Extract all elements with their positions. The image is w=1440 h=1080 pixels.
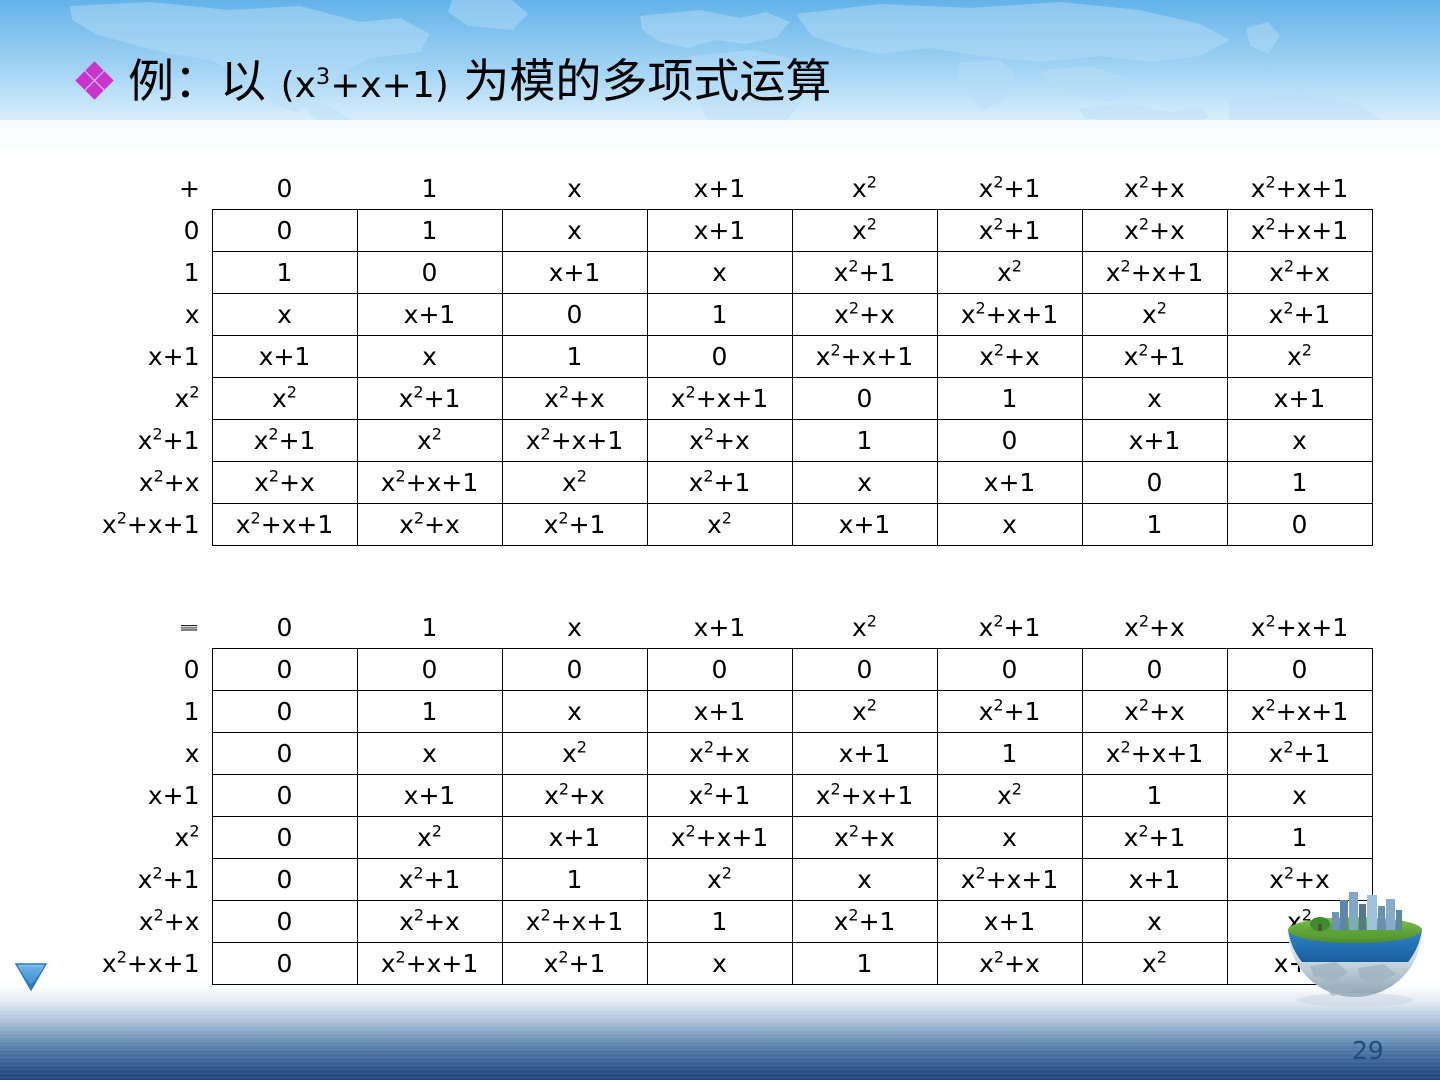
multiplication-table-row: x2+x0x2+xx2+x+11x2+1x+1xx2: [0, 901, 1372, 943]
down-triangle-icon[interactable]: [14, 962, 48, 992]
multiplication-table: ≡ 0 1 x x+1 x2 x2+1 x2+x x2+x+1 00000000…: [0, 607, 1373, 985]
addition-table-cell-0-0: 0: [212, 210, 357, 252]
addition-operator-symbol: +: [0, 168, 212, 210]
multiplication-table-block: ≡ 0 1 x x+1 x2 x2+1 x2+x x2+x+1 00000000…: [0, 607, 1373, 985]
addition-table-cell-0-2: x: [502, 210, 647, 252]
addition-table-row-label-4: x2: [0, 378, 212, 420]
addition-table-cell-7-0: x2+x+1: [212, 504, 357, 546]
ocean-footer: [0, 985, 1440, 1080]
addition-table-cell-2-6: x2: [1082, 294, 1227, 336]
multiplication-col-head-0: 0: [212, 607, 357, 649]
addition-table-cell-7-5: x: [937, 504, 1082, 546]
addition-table-row: xxx+101x2+xx2+x+1x2x2+1: [0, 294, 1372, 336]
addition-col-head-3: x+1: [647, 168, 792, 210]
addition-table-cell-1-0: 1: [212, 252, 357, 294]
diamond-bullet-icon: [78, 64, 112, 98]
multiplication-table-cell-3-2: x2+x: [502, 775, 647, 817]
multiplication-table-cell-0-3: 0: [647, 649, 792, 691]
multiplication-table-cell-2-5: 1: [937, 733, 1082, 775]
multiplication-table-row: x2+x+10x2+x+1x2+1x1x2+xx2x+1: [0, 943, 1372, 985]
globe-city-graphic: [1280, 890, 1430, 1015]
multiplication-table-cell-4-2: x+1: [502, 817, 647, 859]
multiplication-table-cell-7-5: x2+x: [937, 943, 1082, 985]
addition-table-cell-2-7: x2+1: [1227, 294, 1372, 336]
multiplication-table-cell-4-0: 0: [212, 817, 357, 859]
addition-table-cell-2-3: 1: [647, 294, 792, 336]
addition-table-cell-7-3: x2: [647, 504, 792, 546]
multiplication-table-cell-1-4: x2: [792, 691, 937, 733]
addition-table-cell-4-2: x2+x: [502, 378, 647, 420]
addition-table-row-label-6: x2+x: [0, 462, 212, 504]
addition-table-cell-5-0: x2+1: [212, 420, 357, 462]
addition-table-cell-3-0: x+1: [212, 336, 357, 378]
multiplication-table-row-label-1: 1: [0, 691, 212, 733]
multiplication-table-cell-1-7: x2+x+1: [1227, 691, 1372, 733]
addition-table-cell-5-3: x2+x: [647, 420, 792, 462]
addition-col-head-5: x2+1: [937, 168, 1082, 210]
multiplication-table-row: x2+10x2+11x2xx2+x+1x+1x2+x: [0, 859, 1372, 901]
multiplication-table-cell-6-4: x2+1: [792, 901, 937, 943]
multiplication-table-cell-1-5: x2+1: [937, 691, 1082, 733]
addition-table-cell-1-7: x2+x: [1227, 252, 1372, 294]
addition-table-cell-2-1: x+1: [357, 294, 502, 336]
multiplication-table-cell-1-1: 1: [357, 691, 502, 733]
title-polynomial: (x3+x+1): [281, 65, 449, 106]
multiplication-table-row-label-4: x2: [0, 817, 212, 859]
multiplication-table-cell-2-2: x2: [502, 733, 647, 775]
multiplication-table-cell-6-5: x+1: [937, 901, 1082, 943]
multiplication-table-cell-3-7: x: [1227, 775, 1372, 817]
addition-table-cell-2-0: x: [212, 294, 357, 336]
addition-table-cell-5-4: 1: [792, 420, 937, 462]
addition-table-cell-4-0: x2: [212, 378, 357, 420]
addition-table-cell-3-4: x2+x+1: [792, 336, 937, 378]
multiplication-table-cell-2-7: x2+1: [1227, 733, 1372, 775]
addition-table-cell-6-6: 0: [1082, 462, 1227, 504]
addition-table-cell-1-6: x2+x+1: [1082, 252, 1227, 294]
title-suffix: 为模的多项式运算: [449, 54, 832, 108]
addition-table-row: x2+xx2+xx2+x+1x2x2+1xx+101: [0, 462, 1372, 504]
multiplication-table-row-label-5: x2+1: [0, 859, 212, 901]
multiplication-table-cell-2-3: x2+x: [647, 733, 792, 775]
ocean-ripples: [0, 985, 1440, 1080]
addition-col-head-0: 0: [212, 168, 357, 210]
multiplication-table-body: 000000000101xx+1x2x2+1x2+xx2+x+1x0xx2x2+…: [0, 649, 1372, 985]
addition-table-cell-5-5: 0: [937, 420, 1082, 462]
addition-table-cell-6-7: 1: [1227, 462, 1372, 504]
addition-col-head-1: 1: [357, 168, 502, 210]
addition-table-cell-0-7: x2+x+1: [1227, 210, 1372, 252]
page-number: 29: [1352, 1036, 1384, 1065]
addition-table-cell-0-3: x+1: [647, 210, 792, 252]
multiplication-col-head-1: 1: [357, 607, 502, 649]
addition-table-cell-7-7: 0: [1227, 504, 1372, 546]
addition-table-cell-3-7: x2: [1227, 336, 1372, 378]
multiplication-table-cell-6-6: x: [1082, 901, 1227, 943]
multiplication-col-head-7: x2+x+1: [1227, 607, 1372, 649]
addition-table-cell-3-1: x: [357, 336, 502, 378]
addition-table-cell-3-5: x2+x: [937, 336, 1082, 378]
addition-table-cell-7-2: x2+1: [502, 504, 647, 546]
addition-table-cell-6-5: x+1: [937, 462, 1082, 504]
addition-table-cell-0-5: x2+1: [937, 210, 1082, 252]
addition-table-cell-5-6: x+1: [1082, 420, 1227, 462]
addition-table-cell-2-5: x2+x+1: [937, 294, 1082, 336]
addition-table-cell-1-2: x+1: [502, 252, 647, 294]
multiplication-table-cell-6-3: 1: [647, 901, 792, 943]
addition-table-cell-4-4: 0: [792, 378, 937, 420]
addition-table-cell-7-4: x+1: [792, 504, 937, 546]
addition-table-cell-6-2: x2: [502, 462, 647, 504]
multiplication-table-cell-5-5: x2+x+1: [937, 859, 1082, 901]
addition-table-cell-4-5: 1: [937, 378, 1082, 420]
addition-table-cell-1-3: x: [647, 252, 792, 294]
multiplication-table-cell-3-6: 1: [1082, 775, 1227, 817]
multiplication-table-cell-5-1: x2+1: [357, 859, 502, 901]
multiplication-table-cell-2-1: x: [357, 733, 502, 775]
multiplication-table-cell-5-0: 0: [212, 859, 357, 901]
multiplication-table-cell-7-0: 0: [212, 943, 357, 985]
multiplication-table-cell-7-2: x2+1: [502, 943, 647, 985]
multiplication-col-head-6: x2+x: [1082, 607, 1227, 649]
multiplication-table-cell-6-2: x2+x+1: [502, 901, 647, 943]
multiplication-table-cell-0-7: 0: [1227, 649, 1372, 691]
addition-table-cell-3-6: x2+1: [1082, 336, 1227, 378]
addition-table-body: 001xx+1x2x2+1x2+xx2+x+1110x+1xx2+1x2x2+x…: [0, 210, 1372, 546]
addition-table-cell-5-2: x2+x+1: [502, 420, 647, 462]
multiplication-table-cell-5-6: x+1: [1082, 859, 1227, 901]
addition-table-cell-4-6: x: [1082, 378, 1227, 420]
addition-table-row-label-1: 1: [0, 252, 212, 294]
multiplication-table-cell-5-3: x2: [647, 859, 792, 901]
addition-table-row: x2x2x2+1x2+xx2+x+101xx+1: [0, 378, 1372, 420]
addition-table-cell-2-2: 0: [502, 294, 647, 336]
multiplication-table-header: ≡ 0 1 x x+1 x2 x2+1 x2+x x2+x+1: [0, 607, 1372, 649]
addition-col-head-4: x2: [792, 168, 937, 210]
addition-table-cell-0-4: x2: [792, 210, 937, 252]
addition-table-cell-0-1: 1: [357, 210, 502, 252]
multiplication-table-cell-6-1: x2+x: [357, 901, 502, 943]
addition-table-cell-6-3: x2+1: [647, 462, 792, 504]
addition-table: + 0 1 x x+1 x2 x2+1 x2+x x2+x+1 001xx+1x…: [0, 168, 1373, 546]
multiplication-table-row: x0xx2x2+xx+11x2+x+1x2+1: [0, 733, 1372, 775]
addition-table-cell-6-0: x2+x: [212, 462, 357, 504]
addition-table-cell-1-5: x2: [937, 252, 1082, 294]
multiplication-table-row-label-6: x2+x: [0, 901, 212, 943]
multiplication-table-cell-3-4: x2+x+1: [792, 775, 937, 817]
addition-header-row: + 0 1 x x+1 x2 x2+1 x2+x x2+x+1: [0, 168, 1372, 210]
addition-table-cell-1-1: 0: [357, 252, 502, 294]
multiplication-table-cell-0-2: 0: [502, 649, 647, 691]
multiplication-table-cell-7-6: x2: [1082, 943, 1227, 985]
multiplication-table-row-label-3: x+1: [0, 775, 212, 817]
addition-table-row: x2+1x2+1x2x2+x+1x2+x10x+1x: [0, 420, 1372, 462]
multiplication-col-head-4: x2: [792, 607, 937, 649]
multiplication-table-cell-4-7: 1: [1227, 817, 1372, 859]
multiplication-table-cell-2-0: 0: [212, 733, 357, 775]
multiplication-table-cell-4-6: x2+1: [1082, 817, 1227, 859]
multiplication-table-cell-0-5: 0: [937, 649, 1082, 691]
multiplication-operator-symbol: ≡: [0, 607, 212, 649]
addition-table-cell-6-1: x2+x+1: [357, 462, 502, 504]
addition-table-cell-2-4: x2+x: [792, 294, 937, 336]
multiplication-table-cell-3-3: x2+1: [647, 775, 792, 817]
addition-table-row: 110x+1xx2+1x2x2+x+1x2+x: [0, 252, 1372, 294]
addition-table-cell-5-1: x2: [357, 420, 502, 462]
addition-table-row-label-5: x2+1: [0, 420, 212, 462]
addition-table-cell-7-1: x2+x: [357, 504, 502, 546]
slide-title-text: 例：以 (x3+x+1) 为模的多项式运算: [128, 58, 831, 104]
multiplication-table-cell-5-2: 1: [502, 859, 647, 901]
addition-table-cell-6-4: x: [792, 462, 937, 504]
multiplication-table-row: 000000000: [0, 649, 1372, 691]
multiplication-table-cell-4-4: x2+x: [792, 817, 937, 859]
addition-table-row-label-2: x: [0, 294, 212, 336]
addition-table-block: + 0 1 x x+1 x2 x2+1 x2+x x2+x+1 001xx+1x…: [0, 168, 1373, 546]
addition-table-cell-4-7: x+1: [1227, 378, 1372, 420]
addition-table-row-label-0: 0: [0, 210, 212, 252]
addition-table-row: x+1x+1x10x2+x+1x2+xx2+1x2: [0, 336, 1372, 378]
multiplication-table-cell-0-6: 0: [1082, 649, 1227, 691]
addition-table-row-label-3: x+1: [0, 336, 212, 378]
slide-canvas: 例：以 (x3+x+1) 为模的多项式运算 + 0 1 x x+1 x2 x2+…: [0, 0, 1440, 1080]
multiplication-table-cell-7-1: x2+x+1: [357, 943, 502, 985]
multiplication-col-head-2: x: [502, 607, 647, 649]
multiplication-table-cell-7-3: x: [647, 943, 792, 985]
multiplication-table-cell-3-1: x+1: [357, 775, 502, 817]
addition-table-cell-4-3: x2+x+1: [647, 378, 792, 420]
addition-table-cell-5-7: x: [1227, 420, 1372, 462]
multiplication-table-cell-7-4: 1: [792, 943, 937, 985]
multiplication-table-cell-0-1: 0: [357, 649, 502, 691]
addition-table-cell-3-2: 1: [502, 336, 647, 378]
multiplication-table-row-label-2: x: [0, 733, 212, 775]
multiplication-table-row: 101xx+1x2x2+1x2+xx2+x+1: [0, 691, 1372, 733]
addition-table-row: x2+x+1x2+x+1x2+xx2+1x2x+1x10: [0, 504, 1372, 546]
title-prefix: 例：以: [128, 54, 281, 108]
addition-col-head-6: x2+x: [1082, 168, 1227, 210]
addition-table-cell-1-4: x2+1: [792, 252, 937, 294]
addition-table-cell-4-1: x2+1: [357, 378, 502, 420]
multiplication-col-head-5: x2+1: [937, 607, 1082, 649]
multiplication-table-cell-0-4: 0: [792, 649, 937, 691]
multiplication-table-cell-4-3: x2+x+1: [647, 817, 792, 859]
multiplication-table-cell-1-3: x+1: [647, 691, 792, 733]
addition-table-cell-3-3: 0: [647, 336, 792, 378]
addition-table-header: + 0 1 x x+1 x2 x2+1 x2+x x2+x+1: [0, 168, 1372, 210]
multiplication-table-row: x20x2x+1x2+x+1x2+xxx2+11: [0, 817, 1372, 859]
addition-col-head-2: x: [502, 168, 647, 210]
banner-fade: [0, 120, 1440, 148]
addition-table-row: 001xx+1x2x2+1x2+xx2+x+1: [0, 210, 1372, 252]
page-title: 例：以 (x3+x+1) 为模的多项式运算: [78, 58, 831, 104]
multiplication-table-row: x+10x+1x2+xx2+1x2+x+1x21x: [0, 775, 1372, 817]
multiplication-table-cell-5-4: x: [792, 859, 937, 901]
addition-col-head-7: x2+x+1: [1227, 168, 1372, 210]
multiplication-table-cell-0-0: 0: [212, 649, 357, 691]
multiplication-header-row: ≡ 0 1 x x+1 x2 x2+1 x2+x x2+x+1: [0, 607, 1372, 649]
addition-table-cell-7-6: 1: [1082, 504, 1227, 546]
multiplication-col-head-3: x+1: [647, 607, 792, 649]
multiplication-table-cell-4-5: x: [937, 817, 1082, 859]
multiplication-table-cell-3-5: x2: [937, 775, 1082, 817]
multiplication-table-cell-1-2: x: [502, 691, 647, 733]
addition-table-row-label-7: x2+x+1: [0, 504, 212, 546]
addition-table-cell-0-6: x2+x: [1082, 210, 1227, 252]
multiplication-table-cell-1-0: 0: [212, 691, 357, 733]
multiplication-table-cell-3-0: 0: [212, 775, 357, 817]
multiplication-table-cell-1-6: x2+x: [1082, 691, 1227, 733]
multiplication-table-row-label-0: 0: [0, 649, 212, 691]
multiplication-table-cell-4-1: x2: [357, 817, 502, 859]
multiplication-table-cell-6-0: 0: [212, 901, 357, 943]
multiplication-table-cell-2-6: x2+x+1: [1082, 733, 1227, 775]
multiplication-table-cell-2-4: x+1: [792, 733, 937, 775]
